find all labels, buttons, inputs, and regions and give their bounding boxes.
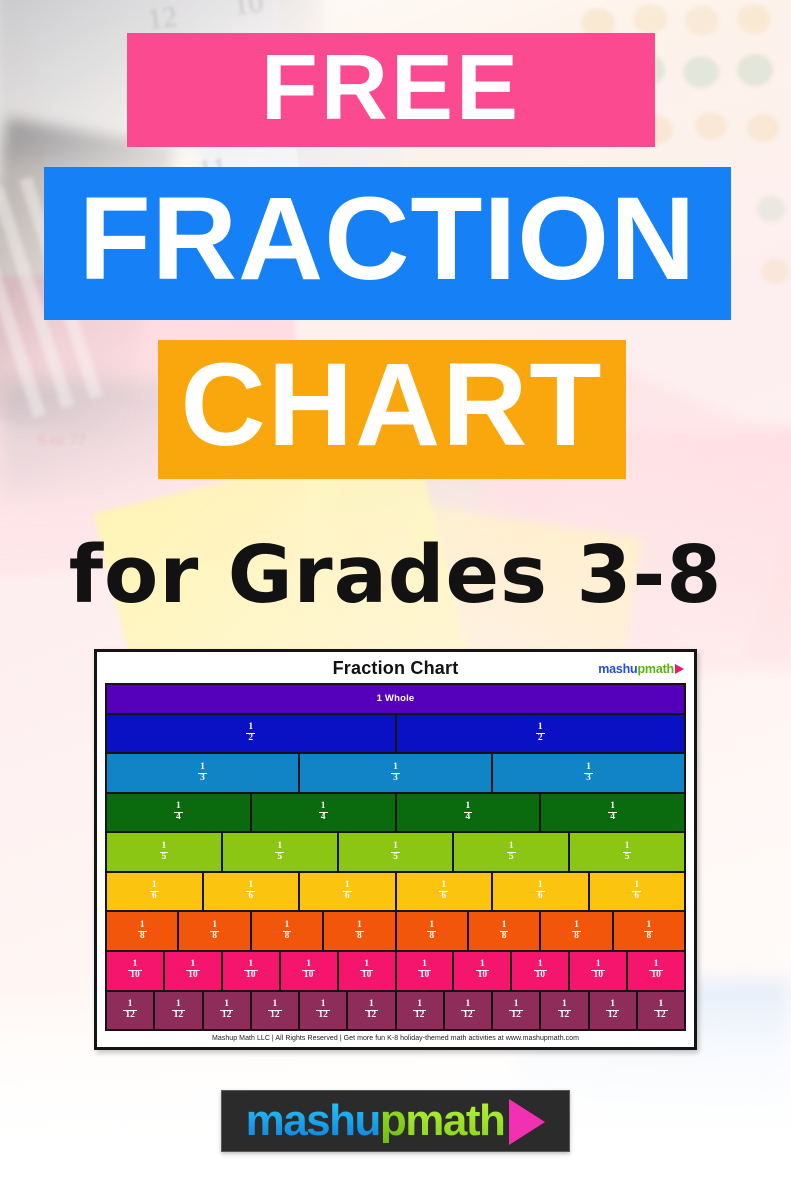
fraction-cell-label: 110 [534,960,548,981]
fraction-cell: 18 [397,912,469,950]
fraction-cell: 15 [339,833,455,871]
fraction-denominator: 10 [476,970,490,981]
fraction-numerator: 1 [608,1000,617,1010]
fraction-cell-label: 110 [649,960,663,981]
fraction-numerator: 1 [343,881,352,891]
fraction-numerator: 1 [246,881,255,891]
fraction-numerator: 1 [174,802,183,812]
fraction-numerator: 1 [355,921,364,931]
fraction-denominator: 4 [608,812,617,823]
fraction-cell-label: 18 [500,921,509,942]
fraction-cell-label: 15 [623,842,632,863]
fraction-cell: 112 [300,992,348,1030]
fraction-cell-label: 16 [343,881,352,902]
headline-fraction-text: FRACTION [79,180,697,298]
fraction-numerator: 1 [427,921,436,931]
fraction-numerator: 1 [131,960,140,970]
fraction-numerator: 1 [198,763,207,773]
fraction-denominator: 12 [220,1010,234,1021]
fraction-cell-label: 16 [536,881,545,902]
headline-chart-text: CHART [181,346,604,464]
fraction-cell: 112 [252,992,300,1030]
fraction-numerator: 1 [319,1000,328,1010]
fraction-denominator: 6 [246,891,255,902]
fraction-numerator: 1 [160,842,169,852]
fraction-denominator: 2 [246,733,255,744]
headline-free-text: FREE [261,41,521,134]
fraction-cell-label: 12 [246,723,255,744]
fraction-cell: 110 [570,952,628,990]
fraction-cell: 13 [493,754,684,792]
fraction-row-1-whole: 1 Whole [107,685,684,715]
fraction-chart-footer: Mashup Math LLC | All Rights Reserved | … [105,1031,686,1043]
fraction-cell-label: 112 [268,1000,282,1021]
play-triangle-icon [509,1099,545,1145]
fraction-cell-label: 16 [150,881,159,902]
fraction-numerator: 1 [275,842,284,852]
fraction-cell: 112 [493,992,541,1030]
play-triangle-icon [675,664,684,674]
fraction-denominator: 12 [413,1010,427,1021]
fraction-chart-header: Fraction Chart mashupmath [105,658,686,683]
headline-banner-fraction: FRACTION [44,167,731,320]
fraction-denominator: 12 [316,1010,330,1021]
fraction-numerator: 1 [391,842,400,852]
fraction-denominator: 6 [632,891,641,902]
fraction-numerator: 1 [464,802,473,812]
fraction-cell-label: 112 [365,1000,379,1021]
fraction-cell-label: 15 [160,842,169,863]
fraction-denominator: 10 [418,970,432,981]
fraction-numerator: 1 [623,842,632,852]
fraction-denominator: 12 [654,1010,668,1021]
fraction-numerator: 1 [420,960,429,970]
fraction-cell-label: 112 [123,1000,137,1021]
fraction-denominator: 5 [160,852,169,863]
fraction-cell: 110 [339,952,397,990]
fraction-denominator: 12 [461,1010,475,1021]
fraction-cell-label: 112 [316,1000,330,1021]
fraction-denominator: 5 [391,852,400,863]
fraction-numerator: 1 [644,921,653,931]
fraction-numerator: 1 [319,802,328,812]
fraction-cell-label: 14 [464,802,473,823]
fraction-cell: 110 [165,952,223,990]
fraction-numerator: 1 [126,1000,135,1010]
fraction-cell-label: 112 [172,1000,186,1021]
fraction-numerator: 1 [210,921,219,931]
fraction-cell-label: 18 [355,921,364,942]
fraction-denominator: 10 [128,970,142,981]
fraction-numerator: 1 [536,881,545,891]
fraction-cell-label: 112 [220,1000,234,1021]
headline-banner-chart: CHART [158,340,626,479]
fraction-numerator: 1 [362,960,371,970]
fraction-cell: 112 [638,992,684,1030]
fraction-cell-label: 112 [509,1000,523,1021]
fraction-rows: 1 Whole121213131314141414151515151516161… [105,683,686,1031]
fraction-denominator: 2 [536,733,545,744]
fraction-cell-label: 110 [302,960,316,981]
logo-text-mashu: mashu [598,662,637,676]
fraction-cell: 14 [107,794,252,832]
fraction-cell-label: 112 [606,1000,620,1021]
fraction-denominator: 5 [507,852,516,863]
fraction-cell-label: 15 [391,842,400,863]
fraction-cell-label: 14 [608,802,617,823]
fraction-cell-label: 112 [413,1000,427,1021]
fraction-denominator: 8 [427,931,436,942]
fraction-cell-label: 110 [591,960,605,981]
fraction-cell-label: 14 [174,802,183,823]
fraction-cell: 110 [223,952,281,990]
brand-wordmark: mashupmath [246,1098,546,1144]
fraction-cell: 112 [204,992,252,1030]
fraction-denominator: 6 [536,891,545,902]
logo-text-math: math [645,662,674,676]
fraction-numerator: 1 [572,921,581,931]
fraction-denominator: 8 [138,931,147,942]
fraction-cell: 110 [512,952,570,990]
fraction-numerator: 1 [536,723,545,733]
fraction-numerator: 1 [304,960,313,970]
fraction-row-1-over-5: 1515151515 [107,833,684,873]
fraction-cell: 110 [107,952,165,990]
fraction-cell: 18 [179,912,251,950]
fraction-denominator: 12 [172,1010,186,1021]
fraction-cell-label: 18 [283,921,292,942]
fraction-cell: 16 [493,873,590,911]
fraction-numerator: 1 [439,881,448,891]
fraction-numerator: 1 [391,763,400,773]
fraction-numerator: 1 [415,1000,424,1010]
fraction-denominator: 12 [365,1010,379,1021]
fraction-cell: 18 [324,912,396,950]
fraction-row-1-over-10: 110110110110110110110110110110 [107,952,684,992]
fraction-chart-card: Fraction Chart mashupmath 1 Whole1212131… [94,649,697,1050]
fraction-denominator: 10 [534,970,548,981]
fraction-cell-label: 12 [536,723,545,744]
mashup-math-logo-large: mashupmath [221,1090,570,1152]
fraction-denominator: 3 [391,773,400,784]
fraction-numerator: 1 [652,960,661,970]
fraction-cell: 110 [397,952,455,990]
fraction-denominator: 8 [572,931,581,942]
fraction-cell-label: 110 [186,960,200,981]
fraction-denominator: 10 [244,970,258,981]
fraction-cell-label: 13 [391,763,400,784]
fraction-denominator: 8 [283,931,292,942]
fraction-denominator: 8 [210,931,219,942]
fraction-denominator: 4 [464,812,473,823]
fraction-cell: 12 [107,715,397,753]
fraction-cell: 1 Whole [107,685,684,713]
fraction-cell: 112 [107,992,155,1030]
fraction-cell-label: 13 [584,763,593,784]
fraction-numerator: 1 [174,1000,183,1010]
fraction-row-1-over-8: 1818181818181818 [107,912,684,952]
fraction-numerator: 1 [246,723,255,733]
fraction-cell: 110 [281,952,339,990]
fraction-denominator: 6 [150,891,159,902]
fraction-cell: 15 [570,833,684,871]
headline-banner-free: FREE [127,33,655,147]
fraction-cell: 16 [590,873,685,911]
fraction-numerator: 1 [632,881,641,891]
fraction-cell: 18 [541,912,613,950]
fraction-denominator: 10 [649,970,663,981]
fraction-cell: 16 [300,873,397,911]
fraction-cell: 14 [541,794,684,832]
fraction-cell-label: 110 [128,960,142,981]
fraction-numerator: 1 [464,1000,473,1010]
fraction-denominator: 10 [186,970,200,981]
fraction-numerator: 1 [283,921,292,931]
fraction-denominator: 10 [591,970,605,981]
fraction-cell-label: 16 [246,881,255,902]
fraction-cell: 112 [348,992,396,1030]
fraction-cell-label: 15 [275,842,284,863]
fraction-denominator: 6 [343,891,352,902]
brand-text-math: math [405,1099,504,1143]
fraction-cell-label: 18 [138,921,147,942]
fraction-denominator: 8 [500,931,509,942]
fraction-denominator: 8 [355,931,364,942]
fraction-cell-label: 16 [439,881,448,902]
fraction-cell: 18 [614,912,684,950]
fraction-numerator: 1 [608,802,617,812]
fraction-denominator: 10 [360,970,374,981]
fraction-denominator: 12 [268,1010,282,1021]
fraction-row-1-over-3: 131313 [107,754,684,794]
fraction-cell-label: 112 [654,1000,668,1021]
fraction-numerator: 1 [594,960,603,970]
fraction-cell: 15 [454,833,570,871]
fraction-numerator: 1 [584,763,593,773]
fraction-cell: 110 [628,952,684,990]
fraction-cell-label: 18 [572,921,581,942]
fraction-numerator: 1 [188,960,197,970]
fraction-cell: 14 [397,794,542,832]
fraction-denominator: 12 [558,1010,572,1021]
fraction-cell: 13 [300,754,493,792]
fraction-numerator: 1 [367,1000,376,1010]
fraction-denominator: 12 [606,1010,620,1021]
fraction-denominator: 12 [123,1010,137,1021]
fraction-cell-label: 112 [558,1000,572,1021]
fraction-numerator: 1 [478,960,487,970]
fraction-cell: 18 [469,912,541,950]
fraction-numerator: 1 [500,921,509,931]
fraction-cell-label: 110 [476,960,490,981]
fraction-row-1-over-6: 161616161616 [107,873,684,913]
fraction-numerator: 1 [150,881,159,891]
fraction-cell: 16 [397,873,494,911]
fraction-row-1-over-2: 1212 [107,715,684,755]
logo-text-p: p [637,662,644,676]
fraction-cell-label: 110 [418,960,432,981]
mashup-math-logo-small: mashupmath [598,662,684,676]
fraction-cell: 18 [107,912,179,950]
fraction-cell: 110 [454,952,512,990]
fraction-numerator: 1 [560,1000,569,1010]
fraction-denominator: 3 [584,773,593,784]
fraction-denominator: 10 [302,970,316,981]
fraction-denominator: 4 [319,812,328,823]
fraction-denominator: 5 [275,852,284,863]
fraction-cell-label: 14 [319,802,328,823]
fraction-numerator: 1 [222,1000,231,1010]
fraction-cell: 112 [590,992,638,1030]
fraction-cell-label: 13 [198,763,207,784]
fraction-cell: 112 [541,992,589,1030]
fraction-row-1-over-4: 14141414 [107,794,684,834]
fraction-cell: 15 [223,833,339,871]
fraction-numerator: 1 [536,960,545,970]
fraction-row-1-over-12: 112112112112112112112112112112112112 [107,992,684,1032]
fraction-cell: 14 [252,794,397,832]
fraction-numerator: 1 [512,1000,521,1010]
fraction-cell-label: 18 [210,921,219,942]
fraction-cell: 18 [252,912,324,950]
fraction-numerator: 1 [657,1000,666,1010]
fraction-cell: 13 [107,754,300,792]
fraction-denominator: 6 [439,891,448,902]
fraction-cell: 15 [107,833,223,871]
fraction-cell: 112 [397,992,445,1030]
fraction-cell-label: 18 [644,921,653,942]
fraction-numerator: 1 [138,921,147,931]
fraction-cell-label: 18 [427,921,436,942]
fraction-denominator: 8 [644,931,653,942]
fraction-numerator: 1 [507,842,516,852]
fraction-denominator: 12 [509,1010,523,1021]
fraction-cell: 112 [155,992,203,1030]
fraction-cell-label: 15 [507,842,516,863]
fraction-numerator: 1 [246,960,255,970]
fraction-cell: 16 [204,873,301,911]
fraction-cell-label: 110 [360,960,374,981]
fraction-cell-label: 112 [461,1000,475,1021]
fraction-cell-label: 16 [632,881,641,902]
fraction-cell: 12 [397,715,685,753]
headline-subtitle: for Grades 3-8 [0,527,791,623]
brand-text-mashu: mashu [246,1099,380,1143]
fraction-cell-label: 1 Whole [377,693,415,704]
fraction-denominator: 3 [198,773,207,784]
brand-text-p: p [380,1099,405,1143]
fraction-denominator: 4 [174,812,183,823]
fraction-cell: 112 [445,992,493,1030]
fraction-cell: 16 [107,873,204,911]
fraction-numerator: 1 [271,1000,280,1010]
fraction-cell-label: 110 [244,960,258,981]
fraction-denominator: 5 [623,852,632,863]
